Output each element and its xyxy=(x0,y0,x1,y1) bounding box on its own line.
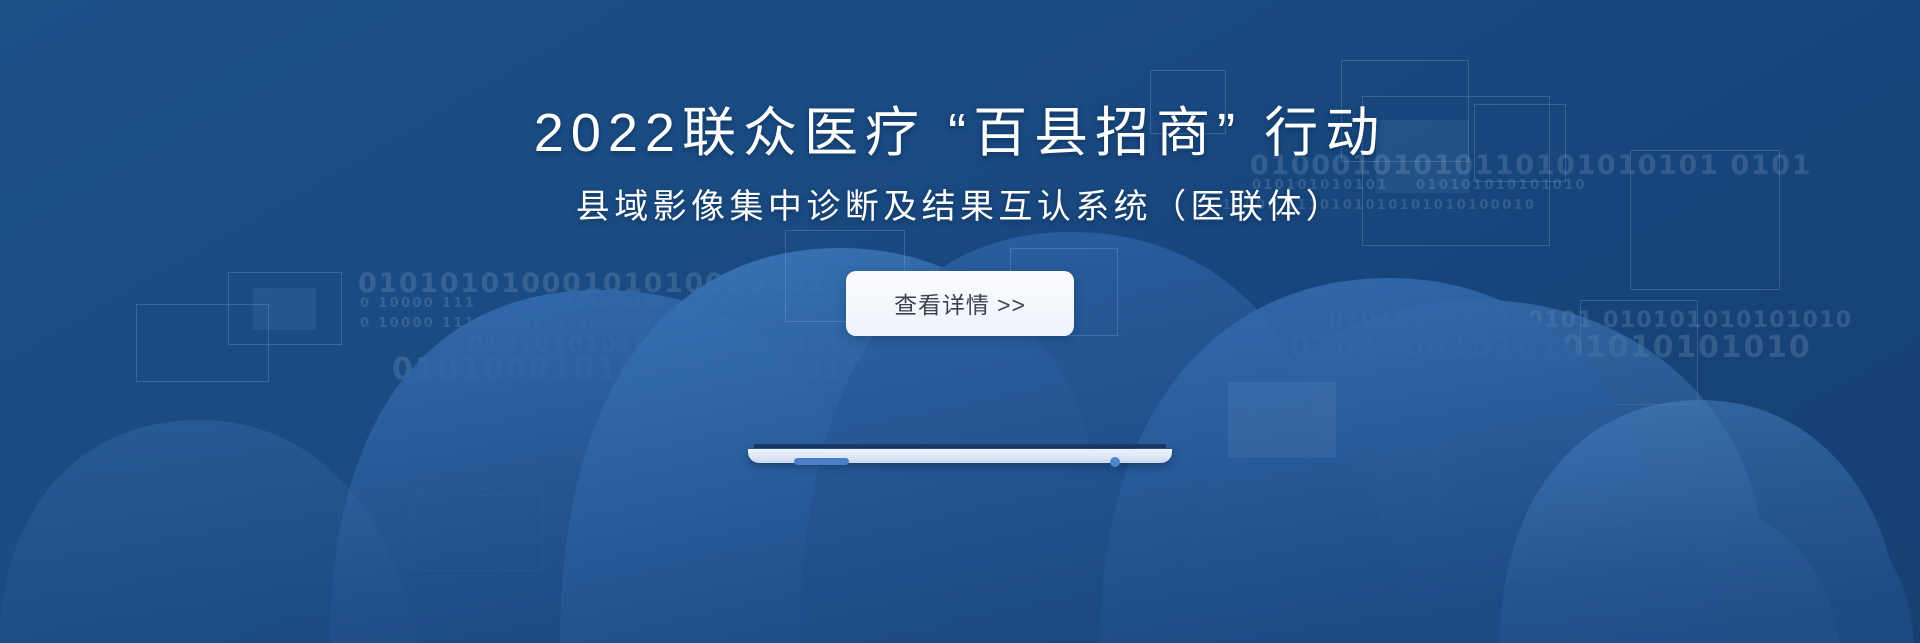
banner-content: 2022联众医疗 “百县招商” 行动 县域影像集中诊断及结果互认系统（医联体） … xyxy=(0,0,1920,336)
cloud-back-right xyxy=(1180,300,1840,643)
page-subtitle: 县域影像集中诊断及结果互认系统（医联体） xyxy=(0,163,1920,226)
tablet-device-graphic xyxy=(748,444,1172,476)
cloud-far-right xyxy=(1500,400,1914,643)
device-screen-edge xyxy=(754,444,1166,448)
device-home-bar-icon xyxy=(794,458,849,465)
decor-rect-outline xyxy=(413,495,543,571)
binary-line: 01010001010101010101010 xyxy=(392,352,914,387)
cta-container: 查看详情 >> xyxy=(0,271,1920,336)
device-camera-dot-icon xyxy=(1110,457,1120,467)
decor-rect-fill xyxy=(1378,428,1454,518)
page-title: 2022联众医疗 “百县招商” 行动 xyxy=(0,0,1920,163)
binary-line: 0101010101010101 010101010101010 xyxy=(468,333,992,358)
promo-banner: 01010101000101010010101 0110 0 10000 111… xyxy=(0,0,1920,643)
cloud-left-base xyxy=(0,420,416,643)
view-details-button[interactable]: 查看详情 >> xyxy=(846,271,1074,336)
decor-rect-fill xyxy=(1228,382,1336,458)
device-body xyxy=(748,449,1172,463)
decor-rect-outline xyxy=(1348,452,1440,532)
